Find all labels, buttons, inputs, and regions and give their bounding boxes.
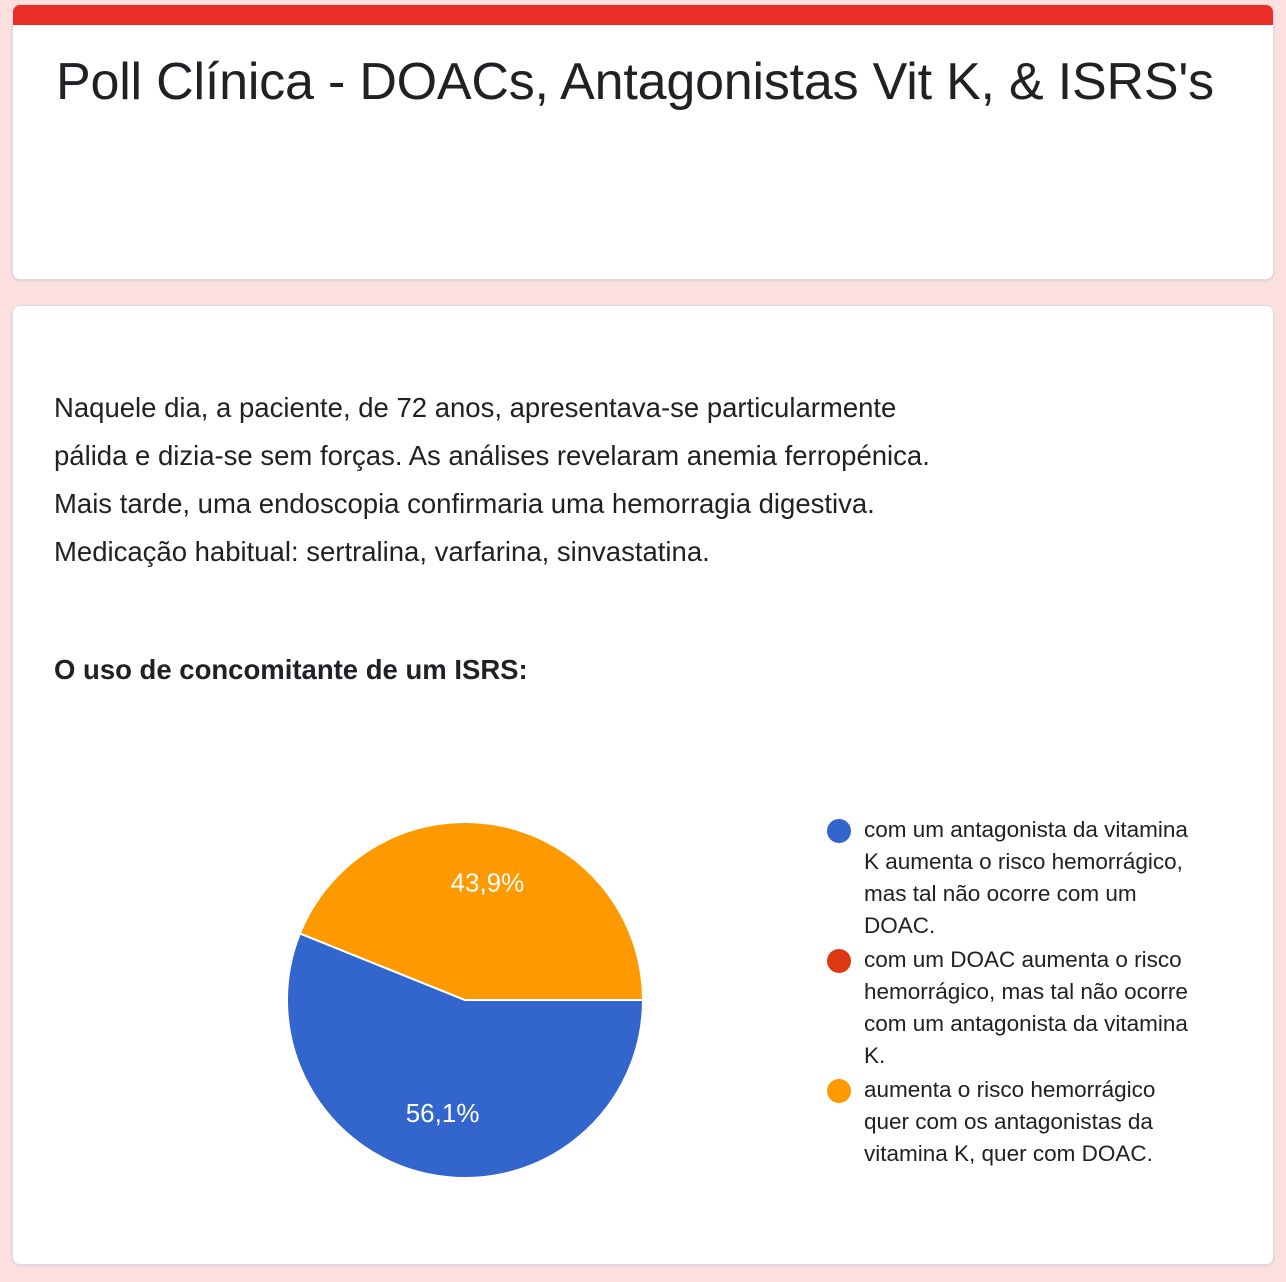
legend-item-label: com um DOAC aumenta o risco hemorrágico,… [864, 944, 1204, 1072]
pie-chart: 56,1%43,9% [287, 822, 643, 1178]
chart-legend: com um antagonista da vitamina K aumenta… [827, 814, 1227, 1172]
page-title: Poll Clínica - DOACs, Antagonistas Vit K… [56, 51, 1216, 114]
legend-item-label: com um antagonista da vitamina K aumenta… [864, 814, 1204, 942]
question-result-card: Naquele dia, a paciente, de 72 anos, apr… [12, 305, 1274, 1265]
legend-item[interactable]: aumenta o risco hemorrágico quer com os … [827, 1074, 1227, 1170]
question-title: O uso de concomitante de um ISRS: [54, 651, 954, 689]
legend-color-dot-icon [827, 1079, 851, 1103]
legend-item-label: aumenta o risco hemorrágico quer com os … [864, 1074, 1204, 1170]
legend-color-dot-icon [827, 819, 851, 843]
legend-item[interactable]: com um DOAC aumenta o risco hemorrágico,… [827, 944, 1227, 1072]
form-header-card: Poll Clínica - DOACs, Antagonistas Vit K… [12, 4, 1274, 280]
pie-slice-value-label: 43,9% [451, 868, 525, 898]
question-description: Naquele dia, a paciente, de 72 anos, apr… [54, 384, 954, 576]
pie-chart-svg: 56,1%43,9% [287, 822, 643, 1178]
header-accent-stripe [13, 5, 1273, 25]
form-page: Poll Clínica - DOACs, Antagonistas Vit K… [0, 0, 1286, 1282]
pie-slice-value-label: 56,1% [406, 1098, 480, 1128]
legend-color-dot-icon [827, 949, 851, 973]
legend-item[interactable]: com um antagonista da vitamina K aumenta… [827, 814, 1227, 942]
pie-chart-container: 56,1%43,9% com um antagonista da vitamin… [43, 806, 1243, 1236]
